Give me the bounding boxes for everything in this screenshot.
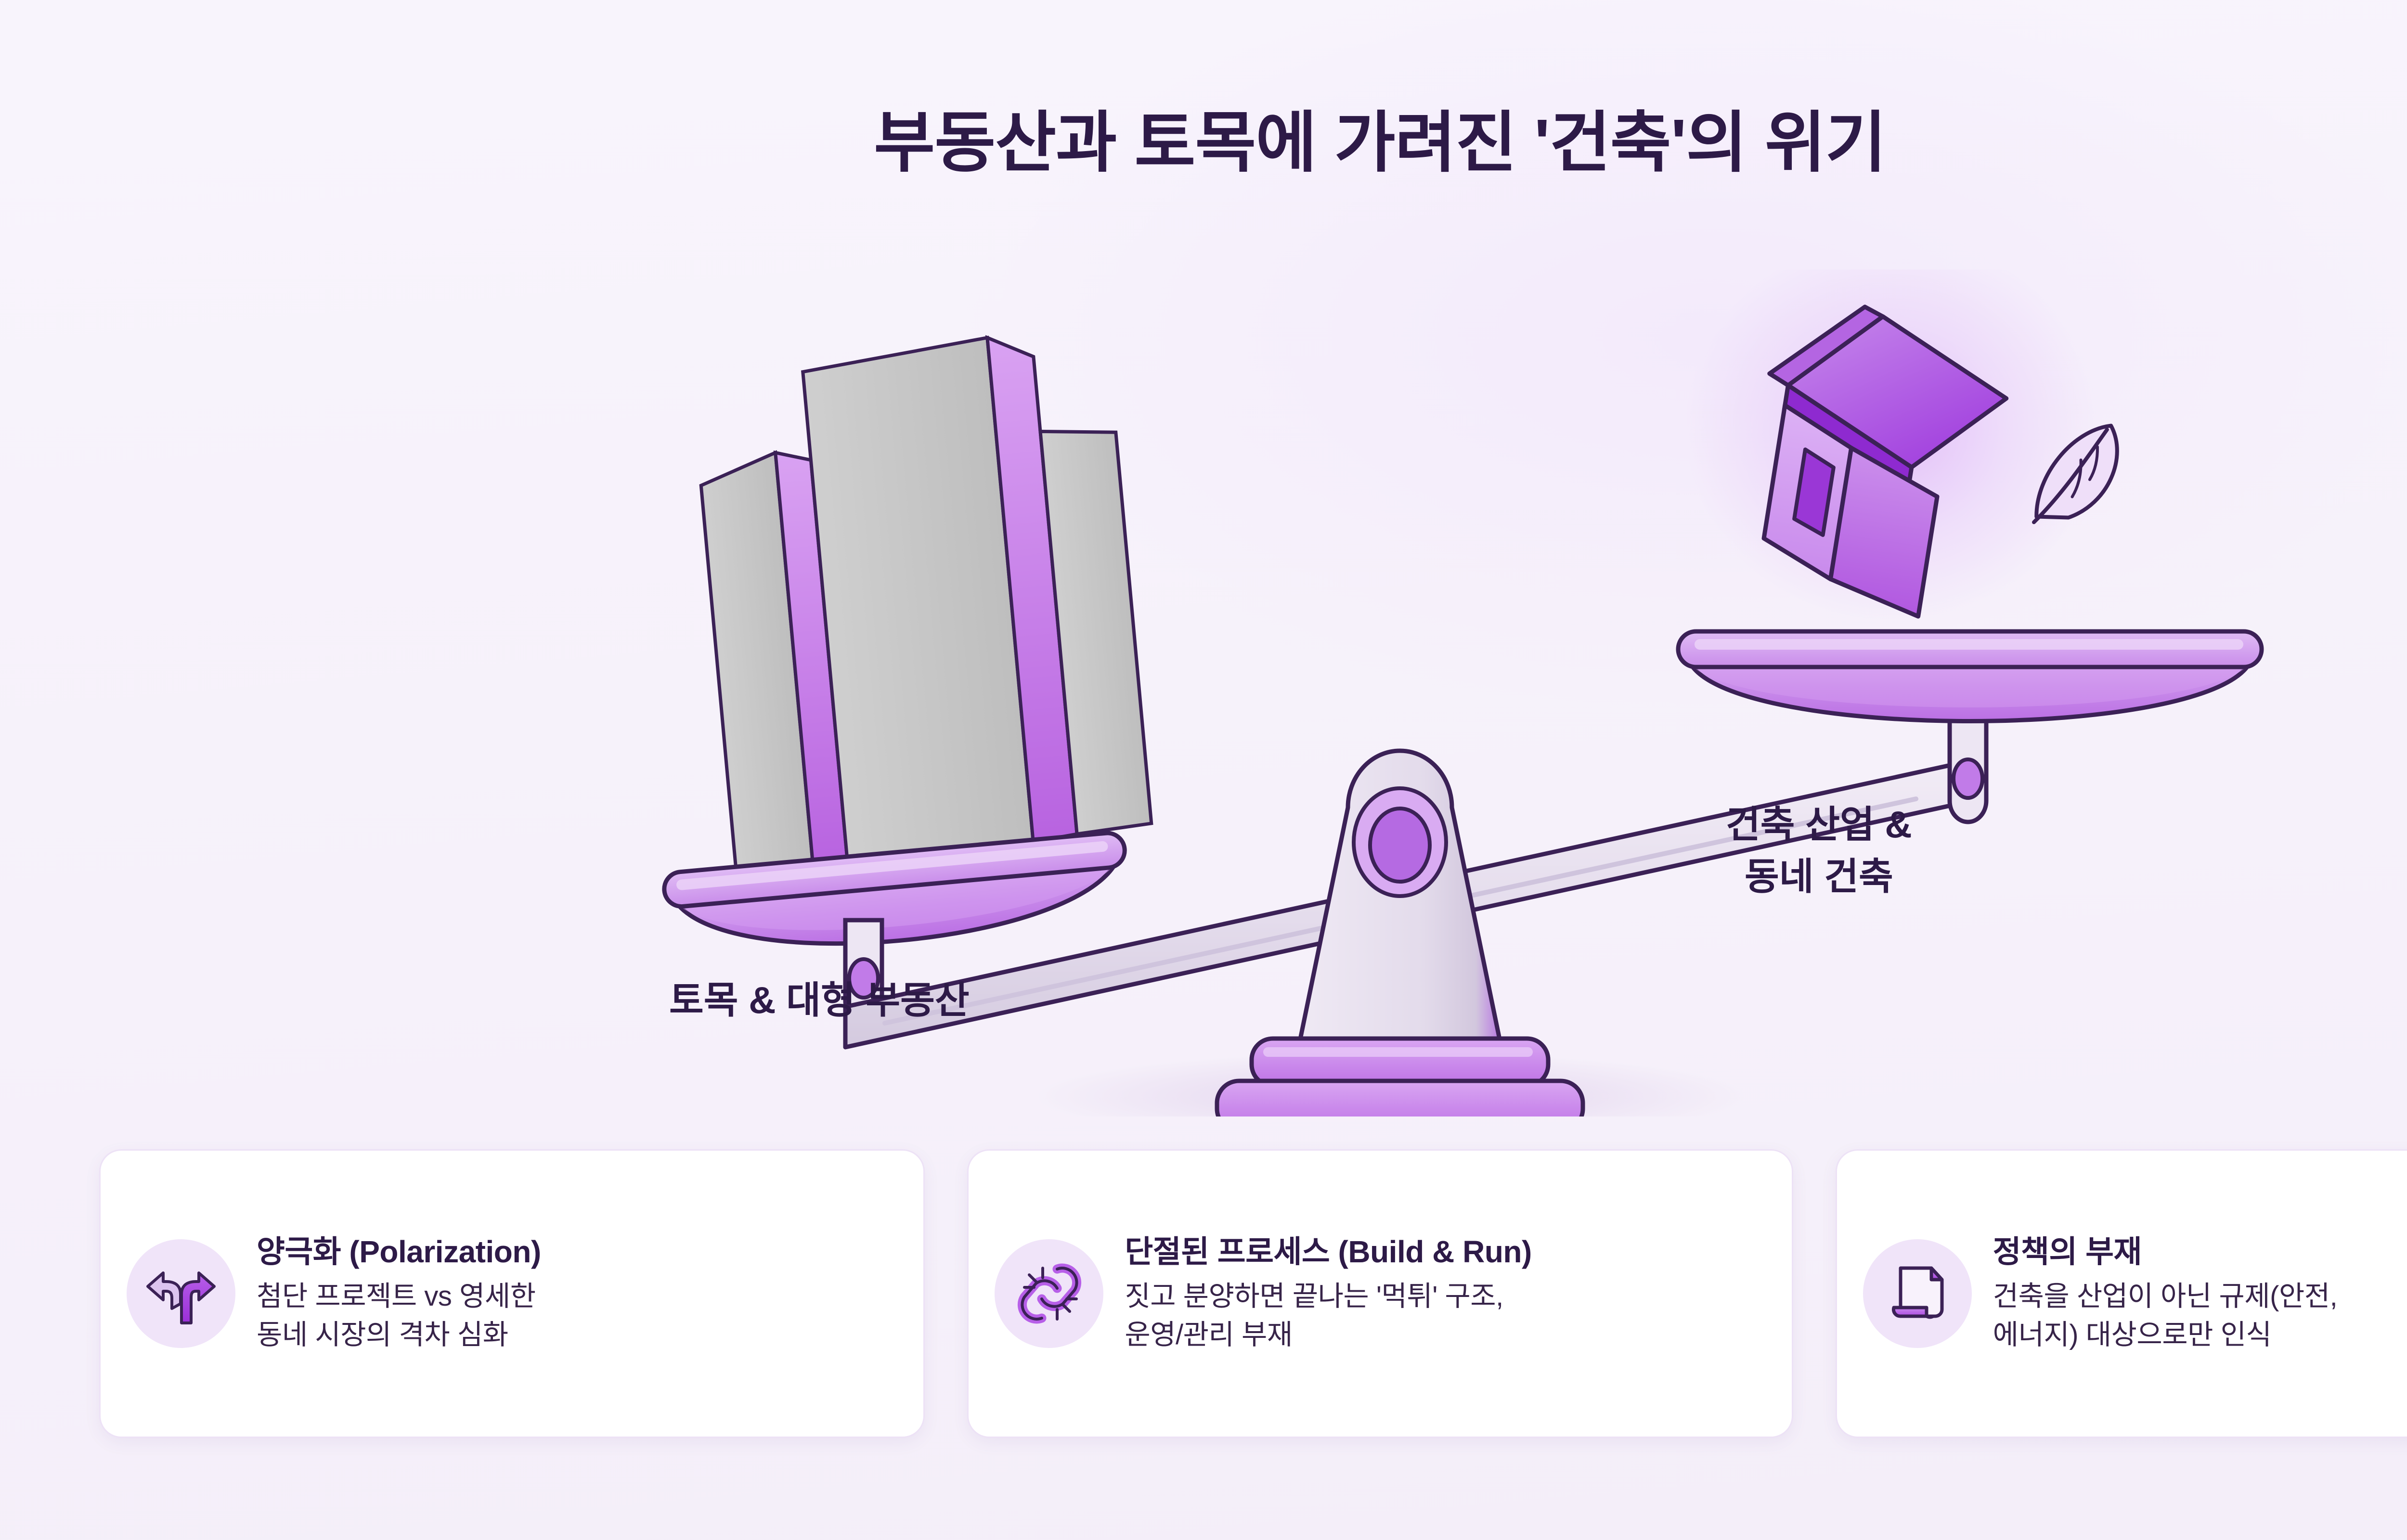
fork-arrow-icon (127, 1239, 235, 1348)
buildings-group (690, 327, 1154, 895)
balance-scale-illustration (0, 269, 2407, 1116)
scale-label-right-line2: 동네 건축 (1745, 855, 1893, 898)
card-policy-absence[interactable]: 정책의 부재 건축을 산업이 아닌 규제(안전, 에너지) 대상으로만 인식 (1836, 1149, 2407, 1438)
document-icon (1863, 1239, 1972, 1348)
card-body: 짓고 분양하면 끝나는 '먹튀' 구조, 운영/관리 부재 (1125, 1277, 1761, 1354)
card-text: 단절된 프로세스 (Build & Run) 짓고 분양하면 끝나는 '먹튀' … (1125, 1233, 1761, 1354)
card-text: 정책의 부재 건축을 산업이 아닌 규제(안전, 에너지) 대상으로만 인식 (1993, 1233, 2407, 1354)
card-body-line1: 첨단 프로젝트 vs 영세한 (257, 1277, 893, 1316)
right-pan-hanger (1950, 721, 1986, 822)
card-polarization[interactable]: 양극화 (Polarization) 첨단 프로젝트 vs 영세한 동네 시장의… (99, 1149, 925, 1438)
pivot-inner (1370, 808, 1430, 882)
card-title: 단절된 프로세스 (Build & Run) (1125, 1233, 1761, 1270)
scale-label-left: 토목 & 대형 부동산 (669, 975, 970, 1027)
card-title: 정책의 부재 (1993, 1233, 2407, 1270)
right-pan (1678, 631, 2262, 721)
card-body: 첨단 프로젝트 vs 영세한 동네 시장의 격차 심화 (257, 1277, 893, 1354)
broken-chain-icon (995, 1239, 1103, 1348)
building-tall (801, 334, 1077, 860)
card-broken-process[interactable]: 단절된 프로세스 (Build & Run) 짓고 분양하면 끝나는 '먹튀' … (967, 1149, 1793, 1438)
scale-label-right-line1: 건축 산업 & (1726, 803, 1912, 846)
card-text: 양극화 (Polarization) 첨단 프로젝트 vs 영세한 동네 시장의… (257, 1233, 893, 1354)
insight-cards: 양극화 (Polarization) 첨단 프로젝트 vs 영세한 동네 시장의… (99, 1149, 2407, 1438)
scale-label-right: 건축 산업 & 동네 건축 (1726, 799, 1912, 902)
card-body-line1: 짓고 분양하면 끝나는 '먹튀' 구조, (1125, 1277, 1761, 1316)
card-body-line2: 운영/관리 부재 (1125, 1316, 1761, 1354)
card-body-line1: 건축을 산업이 아닌 규제(안전, (1993, 1277, 2407, 1316)
page-title: 부동산과 토목에 가려진 '건축'의 위기 (0, 107, 2407, 180)
card-body-line2: 동네 시장의 격차 심화 (257, 1316, 893, 1354)
card-body: 건축을 산업이 아닌 규제(안전, 에너지) 대상으로만 인식 (1993, 1277, 2407, 1354)
base-upper (1252, 1039, 1548, 1086)
base-lower (1217, 1081, 1583, 1116)
infographic-canvas: 부동산과 토목에 가려진 '건축'의 위기 (0, 0, 2407, 1540)
card-body-line2: 에너지) 대상으로만 인식 (1993, 1316, 2407, 1354)
card-title: 양극화 (Polarization) (257, 1233, 893, 1270)
